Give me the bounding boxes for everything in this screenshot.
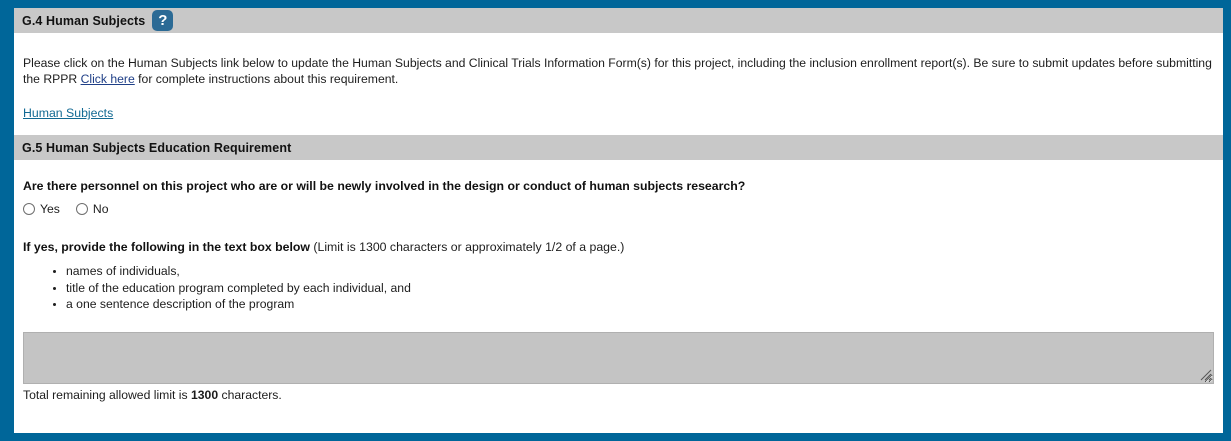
human-subjects-link[interactable]: Human Subjects xyxy=(23,106,113,120)
section-title-g4: G.4 Human Subjects xyxy=(22,14,145,28)
help-question-mark-icon[interactable]: ? xyxy=(152,10,173,31)
section-g4-body: Please click on the Human Subjects link … xyxy=(14,33,1223,135)
list-item: names of individuals, xyxy=(66,263,1214,280)
g4-instruction-text-part2: for complete instructions about this req… xyxy=(135,72,399,86)
radio-circle-yes-icon[interactable] xyxy=(23,203,35,215)
g5-ifyes-limit-text: (Limit is 1300 characters or approximate… xyxy=(310,240,624,254)
radio-circle-no-icon[interactable] xyxy=(76,203,88,215)
section-g5-body: Are there personnel on this project who … xyxy=(14,160,1223,402)
radio-label-yes: Yes xyxy=(40,202,60,216)
g5-radio-group: Yes No xyxy=(23,202,1214,216)
click-here-link[interactable]: Click here xyxy=(81,72,135,86)
character-limit-note: Total remaining allowed limit is 1300 ch… xyxy=(23,388,1214,402)
section-header-g5: G.5 Human Subjects Education Requirement xyxy=(14,135,1223,160)
g5-question-label: Are there personnel on this project who … xyxy=(23,179,1214,193)
character-limit-suffix: characters. xyxy=(218,388,282,402)
g4-instruction-paragraph: Please click on the Human Subjects link … xyxy=(23,33,1214,87)
human-subjects-education-textarea[interactable] xyxy=(23,332,1214,384)
radio-option-no[interactable]: No xyxy=(76,202,109,216)
section-title-g5: G.5 Human Subjects Education Requirement xyxy=(22,141,291,155)
g5-ifyes-instruction: If yes, provide the following in the tex… xyxy=(23,240,1214,254)
radio-label-no: No xyxy=(93,202,109,216)
character-limit-count: 1300 xyxy=(191,388,218,402)
g5-question-block: Are there personnel on this project who … xyxy=(23,160,1214,216)
g5-requirements-list: names of individuals, title of the educa… xyxy=(23,263,1214,313)
character-limit-prefix: Total remaining allowed limit is xyxy=(23,388,191,402)
list-item: a one sentence description of the progra… xyxy=(66,296,1214,313)
human-subjects-link-row: Human Subjects xyxy=(23,87,1214,135)
rppr-section-panel: G.4 Human Subjects ? Please click on the… xyxy=(0,0,1231,441)
g5-ifyes-bold-text: If yes, provide the following in the tex… xyxy=(23,240,310,254)
panel-inner-content: G.4 Human Subjects ? Please click on the… xyxy=(14,8,1223,433)
list-item: title of the education program completed… xyxy=(66,280,1214,297)
section-header-g4: G.4 Human Subjects ? xyxy=(14,8,1223,33)
g5-textarea-wrapper xyxy=(23,332,1214,384)
radio-option-yes[interactable]: Yes xyxy=(23,202,60,216)
